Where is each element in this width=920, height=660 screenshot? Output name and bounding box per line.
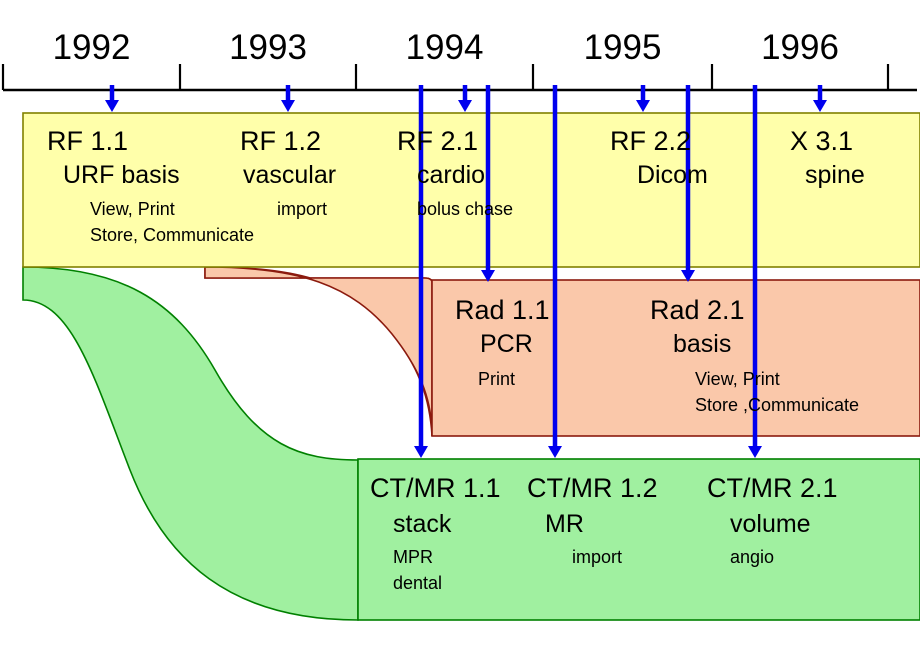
rf-1-2-version: RF 1.2 bbox=[240, 128, 321, 155]
ctmr-2-1-detail-0: angio bbox=[730, 548, 774, 566]
ctmr-1-1-feature: stack bbox=[393, 512, 451, 537]
rad-2-1-feature: basis bbox=[673, 332, 731, 357]
x-3-1-feature: spine bbox=[805, 163, 865, 188]
rf-1-1-detail-0: View, Print bbox=[90, 200, 175, 218]
marker-arrowhead bbox=[414, 446, 428, 458]
ctmr-2-1-version: CT/MR 2.1 bbox=[707, 475, 838, 502]
ctmr-1-1-detail-1: dental bbox=[393, 574, 442, 592]
rf-1-1-detail-1: Store, Communicate bbox=[90, 226, 254, 244]
rf-2-2-feature: Dicom bbox=[637, 163, 708, 188]
marker-arrowhead bbox=[548, 446, 562, 458]
rf-1-2-feature: vascular bbox=[243, 163, 336, 188]
diagram-canvas bbox=[0, 0, 920, 660]
marker-arrowhead bbox=[281, 100, 295, 112]
ctmr-1-2-feature: MR bbox=[545, 512, 584, 537]
ctmr-1-2-detail-0: import bbox=[572, 548, 622, 566]
ctmr-1-1-detail-0: MPR bbox=[393, 548, 433, 566]
ctmr-band-shape bbox=[23, 267, 358, 620]
year-label-1995: 1995 bbox=[584, 30, 662, 65]
rad-2-1-detail-1: Store ,Communicate bbox=[695, 396, 859, 414]
rad-1-1-feature: PCR bbox=[480, 332, 533, 357]
timeline-diagram: 19921993199419951996 RF 1.1URF basisView… bbox=[0, 0, 920, 660]
marker-arrowhead bbox=[636, 100, 650, 112]
rf-2-1-version: RF 2.1 bbox=[397, 128, 478, 155]
time-axis bbox=[3, 64, 917, 90]
rf-1-1-version: RF 1.1 bbox=[47, 128, 128, 155]
rf-2-1-feature: cardio bbox=[417, 163, 485, 188]
ctmr-1-1-version: CT/MR 1.1 bbox=[370, 475, 501, 502]
rad-2-1-version: Rad 2.1 bbox=[650, 297, 745, 324]
marker-arrowhead bbox=[748, 446, 762, 458]
rf-1-1-feature: URF basis bbox=[63, 163, 180, 188]
marker-arrowhead bbox=[813, 100, 827, 112]
ctmr-1-2-version: CT/MR 1.2 bbox=[527, 475, 658, 502]
rad-1-1-detail-0: Print bbox=[478, 370, 515, 388]
marker-arrowhead bbox=[458, 100, 472, 112]
rf-2-2-version: RF 2.2 bbox=[610, 128, 691, 155]
rf-2-1-detail-0: bolus chase bbox=[417, 200, 513, 218]
ctmr-2-1-feature: volume bbox=[730, 512, 811, 537]
marker-arrowhead bbox=[105, 100, 119, 112]
year-label-1993: 1993 bbox=[229, 30, 307, 65]
year-label-1992: 1992 bbox=[53, 30, 131, 65]
rf-1-2-detail-0: import bbox=[277, 200, 327, 218]
band-shapes bbox=[23, 113, 920, 620]
x-3-1-version: X 3.1 bbox=[790, 128, 853, 155]
year-label-1994: 1994 bbox=[406, 30, 484, 65]
year-label-1996: 1996 bbox=[761, 30, 839, 65]
rad-1-1-version: Rad 1.1 bbox=[455, 297, 550, 324]
rad-2-1-detail-0: View, Print bbox=[695, 370, 780, 388]
